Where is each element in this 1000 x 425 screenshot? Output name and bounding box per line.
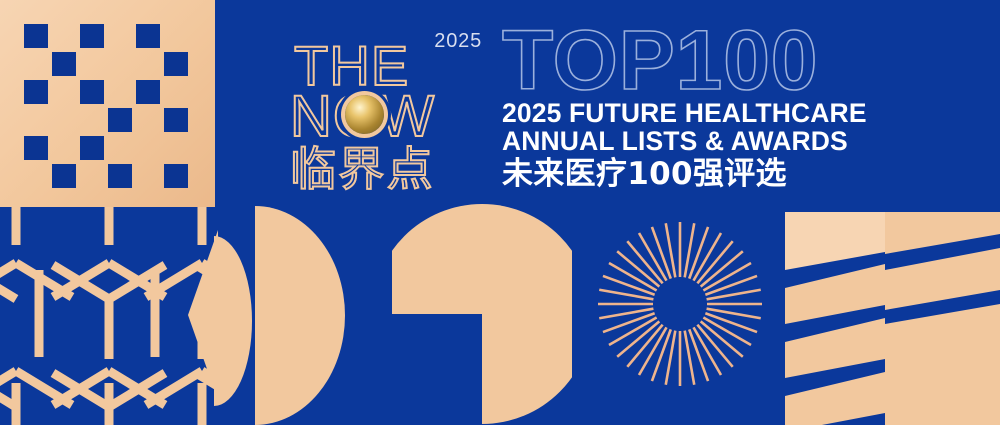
checkerboard-pattern xyxy=(0,0,215,207)
checker-cell xyxy=(80,80,104,104)
circle-quarter-cut xyxy=(392,204,572,425)
checker-cell xyxy=(164,52,188,76)
logo-year-text: 2025 xyxy=(434,30,482,53)
banner-graphic: THE 2025 NOW 临界点 TOP100 2025 FUTURE HEAL… xyxy=(0,0,1000,425)
checker-cell xyxy=(136,24,160,48)
diagonal-stripes-right xyxy=(885,212,1000,425)
stripes-left-svg xyxy=(785,212,885,425)
checker-cell xyxy=(24,80,48,104)
checker-cell xyxy=(80,136,104,160)
checker-cell xyxy=(108,108,132,132)
diagonal-stripes-left xyxy=(785,212,885,425)
title-block: TOP100 2025 FUTURE HEALTHCARE ANNUAL LIS… xyxy=(502,22,852,192)
hexagon-lattice-svg xyxy=(0,207,218,425)
checker-cell xyxy=(24,136,48,160)
headline-top100: TOP100 xyxy=(502,22,852,99)
the-now-logo: THE 2025 NOW 临界点 xyxy=(288,18,488,193)
hexagon-lattice-pattern xyxy=(0,207,218,425)
checker-cell xyxy=(108,164,132,188)
sunburst-radial xyxy=(598,222,762,386)
subtitle-en-line1: 2025 FUTURE HEALTHCARE xyxy=(502,99,852,127)
circle-quarter-cut-svg xyxy=(392,204,572,425)
stripes-right-svg xyxy=(885,212,1000,425)
gold-sphere-icon xyxy=(345,95,384,134)
semicircle-small xyxy=(214,236,252,406)
subtitle-cn: 未来医疗100强评选 xyxy=(502,157,852,192)
checker-cell xyxy=(164,108,188,132)
checker-cell xyxy=(52,52,76,76)
logo-chinese-text: 临界点 xyxy=(290,146,435,192)
checker-cell xyxy=(164,164,188,188)
checker-cell xyxy=(24,24,48,48)
subtitle-en-line2: ANNUAL LISTS & AWARDS xyxy=(502,127,852,155)
checker-cell xyxy=(52,164,76,188)
semicircle-large xyxy=(255,206,345,425)
checker-cell xyxy=(80,24,104,48)
sunburst-svg xyxy=(598,222,762,386)
checker-cell xyxy=(136,80,160,104)
